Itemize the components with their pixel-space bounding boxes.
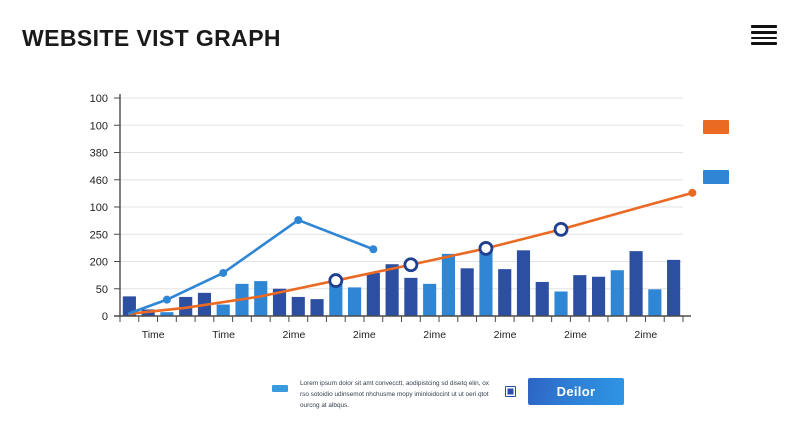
chart-legend (703, 120, 729, 184)
x-axis-tick-label: 2ime (423, 329, 446, 341)
y-axis-labels: 100100380460100250200500 (90, 93, 108, 323)
y-axis-tick-label: 380 (90, 148, 108, 160)
chart-page: WEBSITE VIST GRAPH 100100380460100250200… (0, 0, 799, 436)
y-axis-tick-label: 460 (90, 175, 108, 187)
x-axis-tick-label: Time (212, 329, 235, 341)
chart-bar (348, 287, 361, 316)
menu-line (751, 31, 777, 34)
y-axis-tick-label: 100 (90, 202, 108, 214)
chart-bar (517, 250, 530, 316)
line-marker (555, 223, 567, 235)
x-axis-tick-label: 2ime (494, 329, 517, 341)
chart-bar (592, 277, 605, 316)
cta-button[interactable]: Deilor (528, 378, 624, 405)
chart-bar (254, 281, 267, 316)
chart-bar (479, 248, 492, 316)
orange-swatch (703, 120, 729, 134)
chart-bar (611, 270, 624, 316)
x-axis-tick-label: 2ime (283, 329, 306, 341)
y-axis-tick-label: 0 (102, 311, 108, 323)
hamburger-menu-icon[interactable] (751, 22, 777, 48)
chart-bar (667, 260, 680, 316)
legend-description-block: Lorem ipsum dolor sit amt convecctt, aod… (272, 378, 496, 411)
line-marker (294, 216, 302, 224)
chart-bar (292, 297, 305, 316)
legend-action-block: Deilor (505, 378, 624, 405)
chart-bar (442, 254, 455, 316)
chart-bar (554, 291, 567, 316)
page-header: WEBSITE VIST GRAPH (0, 0, 799, 70)
chart-bar (461, 268, 474, 316)
page-title: WEBSITE VIST GRAPH (22, 25, 281, 52)
line-marker (480, 242, 492, 254)
chart-bar (423, 284, 436, 316)
y-axis-tick-label: 200 (90, 257, 108, 269)
dark-blue-swatch (505, 386, 516, 397)
x-tick-marks (120, 316, 683, 322)
menu-line (751, 42, 777, 45)
y-axis-tick-label: 100 (90, 93, 108, 105)
line-marker (688, 189, 696, 197)
line-marker (163, 296, 171, 304)
x-axis-tick-label: 2ime (564, 329, 587, 341)
chart-container: 100100380460100250200500 TimeTime2ime2im… (0, 70, 799, 370)
x-axis-tick-label: 2ime (634, 329, 657, 341)
line-marker (219, 269, 227, 277)
menu-line (751, 25, 777, 28)
chart-footer: Lorem ipsum dolor sit amt convecctt, aod… (0, 366, 799, 426)
chart-bar (573, 275, 586, 316)
line-marker (369, 245, 377, 253)
legend-description-text: Lorem ipsum dolor sit amt convecctt, aod… (300, 378, 496, 411)
chart-bar (648, 289, 661, 316)
y-axis-tick-label: 250 (90, 229, 108, 241)
chart-bar (367, 273, 380, 316)
x-axis-labels: TimeTime2ime2ime2ime2ime2ime2ime (142, 329, 658, 341)
line-marker (330, 275, 342, 287)
chart-bar (217, 305, 230, 316)
y-axis-tick-label: 50 (96, 284, 108, 296)
light-blue-swatch (703, 170, 729, 184)
chart-bar (536, 282, 549, 316)
x-axis-tick-label: 2ime (353, 329, 376, 341)
chart-bar (498, 269, 511, 316)
chart-bar (310, 299, 323, 316)
chart-bar (630, 251, 643, 316)
grid-lines (120, 98, 683, 289)
y-tick-marks (114, 98, 120, 316)
line-marker (405, 259, 417, 271)
chart-bar (404, 278, 417, 316)
website-visit-chart: 100100380460100250200500 TimeTime2ime2im… (0, 70, 799, 370)
light-blue-swatch (272, 385, 288, 392)
menu-line (751, 37, 777, 40)
x-axis-tick-label: Time (142, 329, 165, 341)
y-axis-tick-label: 100 (90, 120, 108, 132)
chart-bar (386, 264, 399, 316)
